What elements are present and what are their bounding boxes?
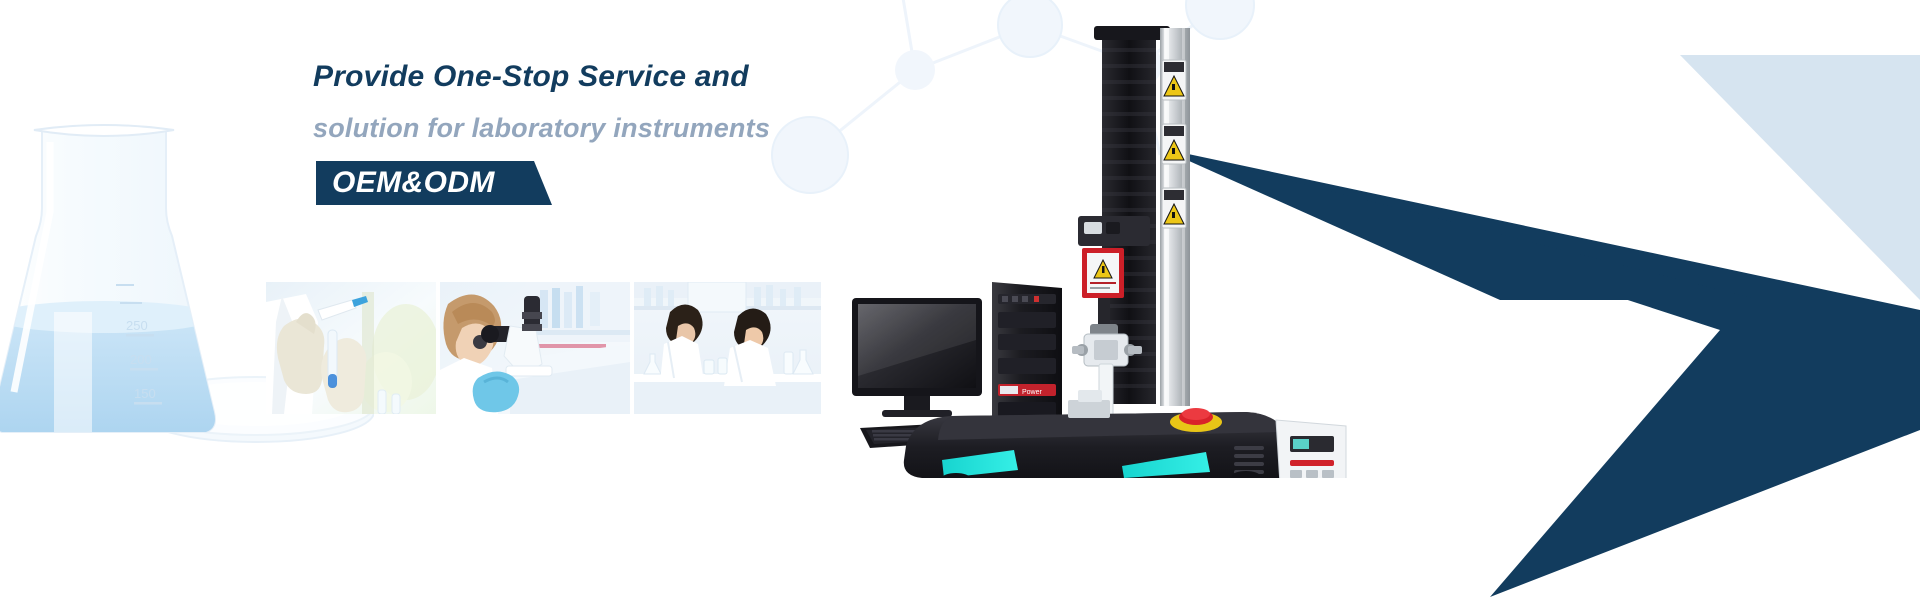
warning-labels [1162,60,1186,228]
svg-text:Power: Power [1022,389,1043,396]
dark-arrow [1160,148,1920,597]
oem-odm-badge: OEM&ODM [316,161,529,205]
svg-text:200: 200 [130,352,152,367]
photo-microscope [440,282,630,414]
crosshead [1078,216,1150,246]
photo-pipetting [266,282,436,414]
emergency-stop-button [1170,408,1222,432]
oem-odm-badge-label: OEM&ODM [316,161,529,205]
computer-tower: Power [992,282,1062,436]
lower-grip [1076,422,1144,470]
svg-text:150: 150 [134,386,156,401]
monitor [852,298,982,417]
svg-text:250: 250 [126,318,148,333]
photo-lab-bench [634,282,821,414]
light-triangle [1680,55,1920,300]
mouse [984,431,1012,449]
flask-body [0,125,234,452]
decorative-arrow-shapes [1160,0,1920,597]
upper-grip [1072,298,1142,366]
teal-accent-left [942,450,1018,478]
headline-line-2: solution for laboratory instruments [313,105,1073,151]
desktop-computer-illustration: Power [846,280,1076,455]
teal-accent-right [1122,452,1210,478]
control-panel [1276,420,1346,478]
flask-graduations: 250 200 150 [116,284,162,405]
load-cell [1082,248,1124,298]
machine-base [904,390,1294,478]
keyboard [860,422,986,448]
promo-banner: 250 200 150 Provide One-Stop Service and… [0,0,1920,597]
headline-line-1: Provide One-Stop Service and [313,55,1073,99]
headline-block: Provide One-Stop Service and solution fo… [313,55,1073,205]
dark-arrow-tip [1160,148,1760,300]
lab-photo-strip [266,282,821,414]
